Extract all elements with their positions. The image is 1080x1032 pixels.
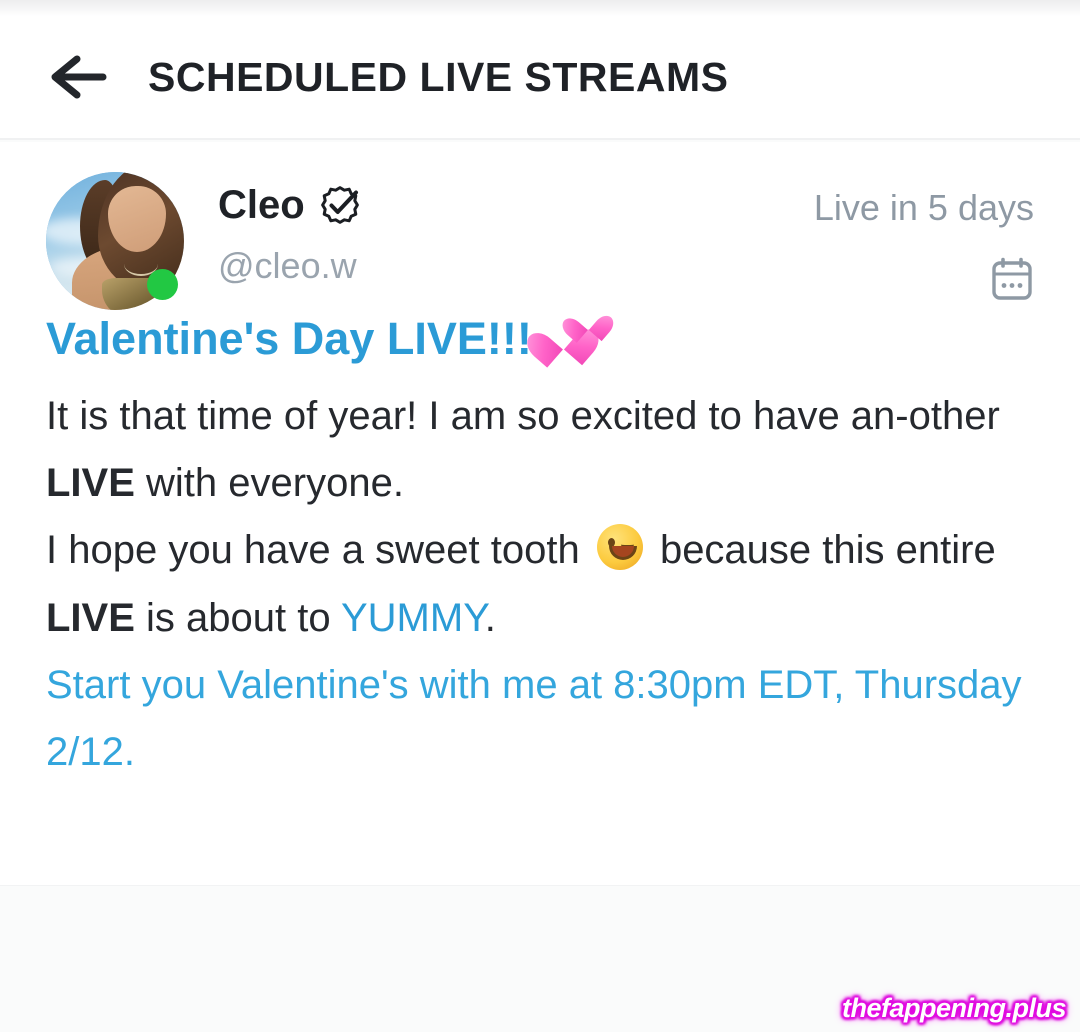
user-handle[interactable]: @cleo.w <box>218 248 361 284</box>
paragraph-2-part-b: because this entire <box>649 528 996 572</box>
app-header: SCHEDULED LIVE STREAMS <box>0 16 1080 140</box>
calendar-icon[interactable] <box>990 256 1034 302</box>
post-paragraph-2: I hope you have a sweet tooth because th… <box>46 517 1034 651</box>
paragraph-1-part-b: with everyone. <box>135 461 404 505</box>
winking-face-emoji <box>597 524 643 570</box>
footer-area: thefappening.plus <box>0 885 1080 1032</box>
paragraph-2-bold-live: LIVE <box>46 596 135 640</box>
post-title-text: Valentine's Day LIVE!!! <box>46 313 532 364</box>
display-name: Cleo <box>218 185 305 225</box>
two-hearts-emoji <box>542 314 604 360</box>
paragraph-2-part-a: I hope you have a sweet tooth <box>46 528 591 572</box>
paragraph-2-part-d: . <box>485 596 496 640</box>
paragraph-1-part-a: It is that time of year! I am so excited… <box>46 394 1000 438</box>
post-body: Valentine's Day LIVE!!! It is that time … <box>0 294 1080 786</box>
scheduled-stream-card[interactable]: Cleo @cleo.w Live in 5 days <box>0 142 1080 885</box>
post-title: Valentine's Day LIVE!!! <box>46 314 1034 361</box>
name-row: Cleo <box>218 184 361 226</box>
page-title: SCHEDULED LIVE STREAMS <box>148 54 729 101</box>
schedule-meta: Live in 5 days <box>814 172 1034 302</box>
back-button[interactable] <box>30 29 126 125</box>
top-gradient-strip <box>0 0 1080 16</box>
yummy-link[interactable]: YUMMY <box>341 596 485 640</box>
live-countdown-label: Live in 5 days <box>814 190 1034 226</box>
site-watermark: thefappening.plus <box>842 993 1066 1024</box>
post-paragraph-1: It is that time of year! I am so excited… <box>46 383 1034 517</box>
post-header: Cleo @cleo.w Live in 5 days <box>0 142 1080 294</box>
paragraph-2-part-c: is about to <box>135 596 341 640</box>
post-paragraph-3: Start you Valentine's with me at 8:30pm … <box>46 652 1034 786</box>
verified-badge-icon <box>319 184 361 226</box>
paragraph-1-bold-live: LIVE <box>46 461 135 505</box>
avatar[interactable] <box>46 172 184 310</box>
online-status-dot <box>147 269 178 300</box>
arrow-left-icon <box>47 50 109 104</box>
identity-block: Cleo @cleo.w <box>218 172 361 284</box>
